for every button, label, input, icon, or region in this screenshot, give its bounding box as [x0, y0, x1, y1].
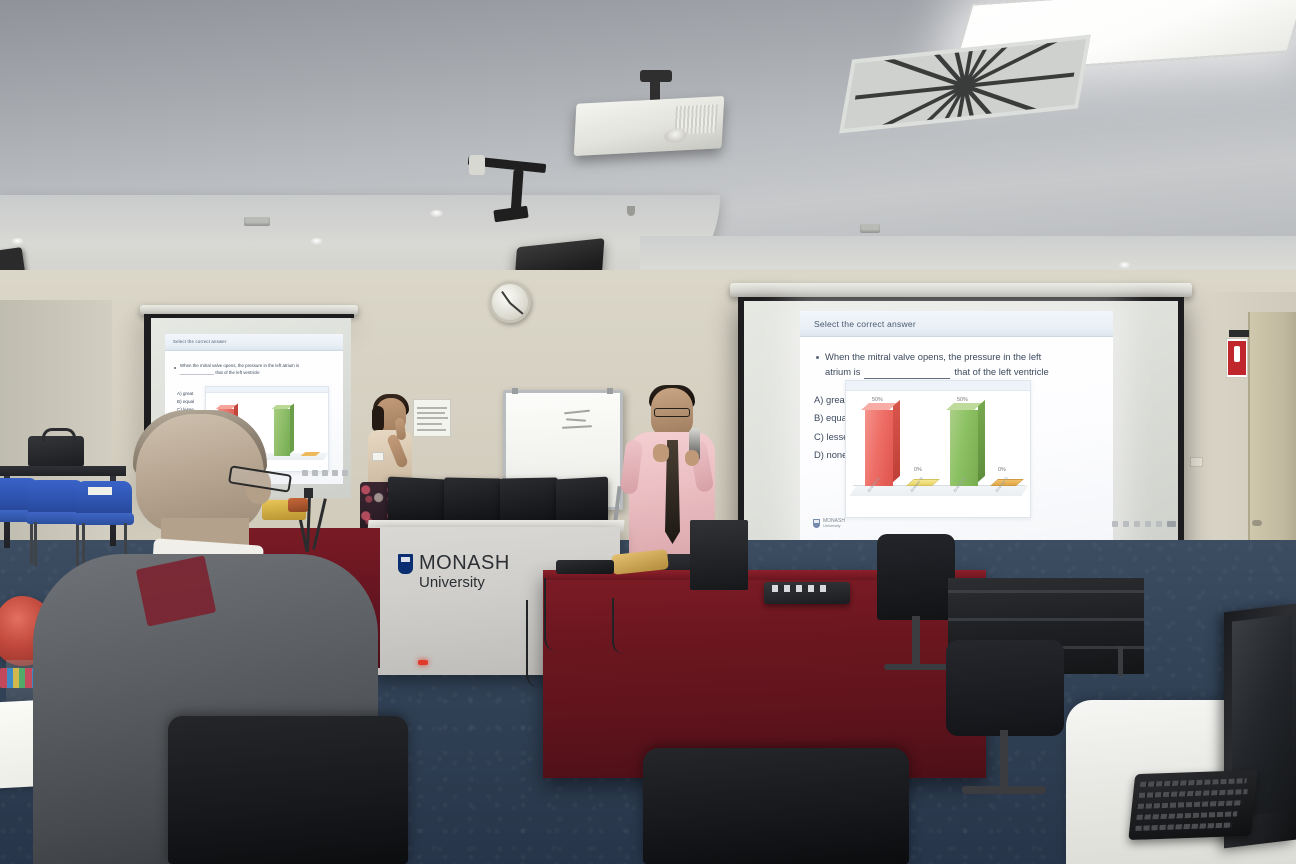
slide-bullet-dot [816, 356, 819, 359]
chart-value-label-a: 50% [872, 397, 883, 403]
slide-bullet-line3: that of the left ventricle [954, 364, 1048, 379]
option-b[interactable]: B) equal [814, 409, 849, 427]
sprinkler-head [627, 206, 635, 216]
projector-mount-bracket [640, 70, 672, 82]
lecture-room-photo: Select the correct answer When the mitra… [0, 0, 1296, 864]
right-screen-case [730, 283, 1192, 297]
chart-value-label-b: 0% [914, 467, 922, 473]
right-screen-control-panel[interactable] [1112, 521, 1176, 527]
slide-title: Select the correct answer [814, 319, 916, 329]
monash-shield-icon [813, 519, 820, 528]
left-option-b: B) equal [177, 398, 194, 406]
poll-chart: 50% 0% 50% 0% Answer A Answer B Answer C [845, 380, 1031, 518]
fire-extinguisher-sign [1226, 338, 1248, 378]
podium-monash-logo: MONASH University [398, 554, 510, 590]
door-handle[interactable] [1252, 520, 1262, 526]
cable-bundle [556, 560, 614, 574]
left-slide-bullet-dot [174, 367, 176, 369]
option-c[interactable]: C) lesse [814, 428, 849, 446]
ceiling-diffuser [244, 217, 270, 226]
slide-bullet-line2: atrium is [825, 364, 860, 379]
chair-post [1000, 730, 1008, 790]
slide-logo-text: MONASH University [823, 519, 845, 528]
table-leg [1118, 646, 1123, 676]
foreground-chair-left[interactable] [168, 716, 408, 864]
chart-bar-a [865, 410, 893, 486]
slide-options: A) great B) equal C) lesse D) none [814, 391, 849, 464]
downlight [430, 210, 443, 217]
camera-rig-light [469, 155, 485, 175]
chair-base [884, 664, 948, 670]
fire-sign-header [1229, 330, 1249, 337]
chair-post [912, 616, 920, 668]
office-chair-right[interactable] [946, 640, 1064, 736]
left-slide-title: Select the correct answer [173, 339, 226, 344]
desktop-keyboard[interactable] [1128, 770, 1257, 840]
ceiling-diffuser [860, 224, 880, 233]
downlight [1118, 262, 1131, 269]
foreground-chair-right[interactable] [643, 748, 909, 864]
room-door[interactable] [1248, 312, 1296, 572]
podium-power-led [418, 660, 428, 665]
chart-value-label-d: 0% [998, 467, 1006, 473]
option-a[interactable]: A) great [814, 391, 849, 409]
power-cable [612, 598, 624, 654]
option-d[interactable]: D) none [814, 446, 849, 464]
chart-bar-c [950, 410, 978, 486]
chart-value-label-c: 50% [957, 397, 968, 403]
wall-socket-plate [1190, 457, 1203, 467]
clock-minute-hand [509, 302, 523, 314]
monash-shield-icon [398, 554, 413, 574]
whiteboard-clip [607, 388, 613, 394]
left-option-a: A) great [177, 390, 194, 398]
chart-header-bar [846, 381, 1030, 391]
office-chair-back[interactable] [877, 534, 955, 620]
downlight [310, 238, 323, 245]
podium-logo-text: MONASH University [419, 554, 510, 590]
av-speaker-box [690, 520, 748, 590]
presenter-left-hand [653, 444, 669, 462]
ceiling-projector [574, 96, 725, 156]
wall-clock [489, 281, 531, 323]
left-slide-bullet: When the mitral valve opens, the pressur… [180, 363, 330, 377]
whiteboard-clip [512, 388, 518, 394]
chair-base [962, 786, 1046, 794]
downlight [11, 238, 24, 245]
slide-monash-logo: MONASH University [813, 519, 845, 528]
slide-bullet-block: When the mitral valve opens, the pressur… [825, 349, 1097, 379]
right-slide: Select the correct answer When the mitra… [800, 311, 1113, 544]
presenter-right-hand [685, 450, 699, 466]
projector-lens [664, 128, 687, 143]
slide-blank-line [864, 368, 950, 379]
slide-bullet-line1: When the mitral valve opens, the pressur… [825, 349, 1097, 364]
av-control-device[interactable] [764, 582, 850, 604]
presenter-glasses [654, 408, 690, 417]
power-cable [526, 600, 548, 688]
